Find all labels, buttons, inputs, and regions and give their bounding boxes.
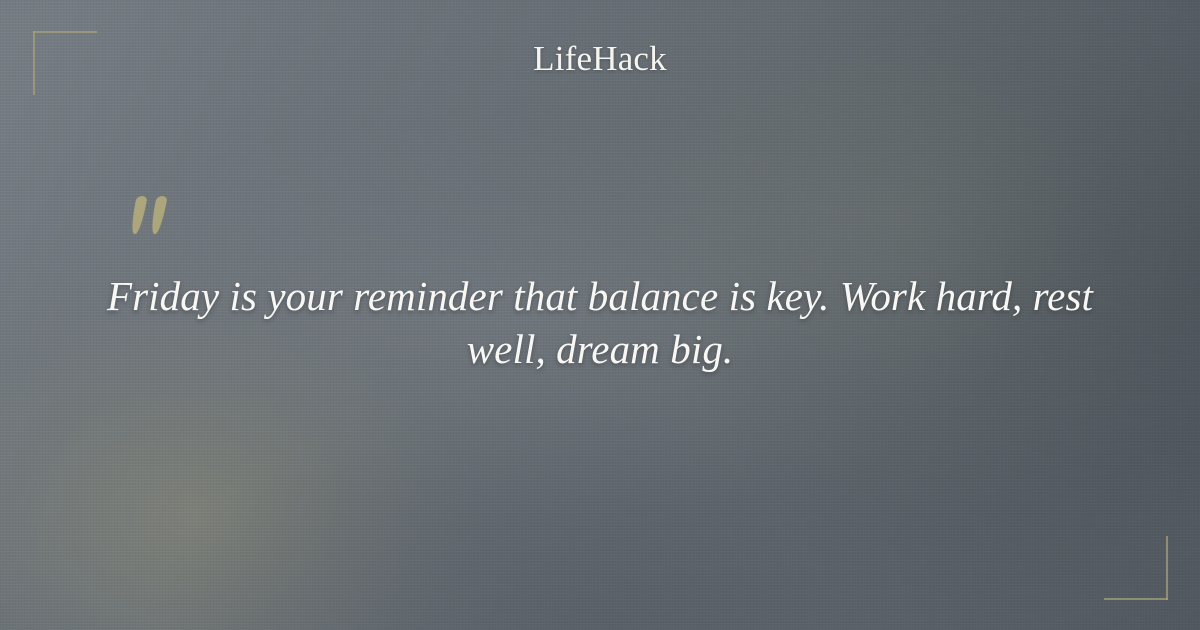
quote-text: Friday is your reminder that balance is …: [92, 270, 1108, 376]
quotation-mark-stroke-left: [129, 196, 147, 234]
brand-logo: LifeHack: [0, 41, 1200, 76]
corner-bracket-top-left-horizontal-line: [33, 31, 97, 33]
corner-bracket-bottom-right-horizontal-line: [1104, 598, 1168, 600]
quotation-mark-stroke-right: [149, 196, 167, 234]
corner-bracket-bottom-right: [1104, 536, 1168, 600]
quotation-mark-icon: [131, 196, 177, 242]
quote-card: LifeHack Friday is your reminder that ba…: [0, 0, 1200, 630]
corner-bracket-bottom-right-vertical-line: [1166, 536, 1168, 600]
